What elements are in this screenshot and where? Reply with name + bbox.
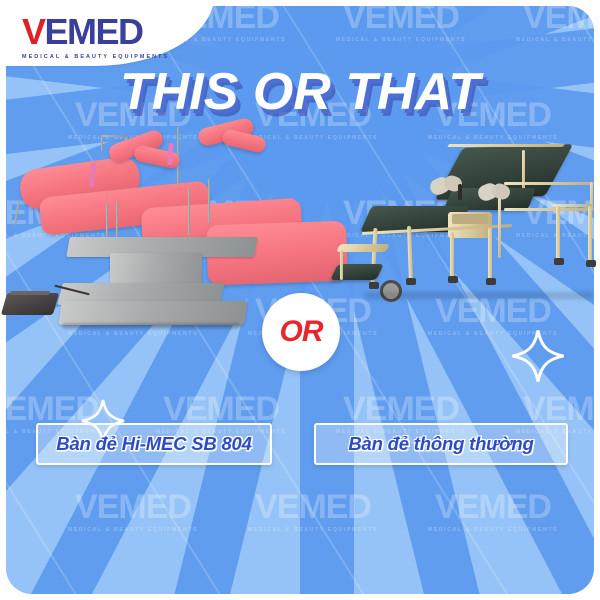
- side-rail-bottom: [504, 208, 594, 211]
- or-label: OR: [280, 315, 323, 349]
- or-divider-badge: OR: [262, 293, 340, 371]
- product-image-right: [352, 140, 596, 340]
- right-product-shadow: [364, 292, 594, 299]
- center-post: [498, 198, 501, 258]
- backrest-rail: [447, 144, 565, 147]
- foot-cap-6: [586, 260, 596, 267]
- foot-cap-5: [554, 258, 564, 265]
- logo-tagline: MEDICAL & BEAUTY EQUIPMENTS: [22, 54, 182, 60]
- base-shadow: [62, 323, 240, 329]
- step-stool-pad: [330, 264, 384, 280]
- step-stool-leg: [340, 250, 343, 280]
- step-stool-top: [336, 244, 390, 252]
- foot-pedal-top: [9, 291, 50, 295]
- leg-3: [450, 232, 454, 280]
- option-label-left[interactable]: Bàn đẻ Hi-MEC SB 804: [36, 423, 272, 465]
- option-label-right-text: Bàn đẻ thông thường: [348, 433, 533, 455]
- foot-cap-1: [369, 282, 379, 289]
- leg-6: [588, 206, 592, 264]
- product-image-left: [2, 145, 302, 345]
- logo-v-letter: V: [22, 11, 45, 52]
- sparkle-icon-right: [510, 328, 566, 384]
- logo-emed-letters: EMED: [45, 11, 143, 52]
- poster-canvas: VEMEDMEDICAL & BEAUTY EQUIPMENTSVEMEDMED…: [0, 0, 600, 600]
- leg-5: [556, 206, 560, 262]
- foot-cap-3: [448, 276, 458, 283]
- iv-hook: [101, 135, 103, 151]
- brand-logo: VEMED MEDICAL & BEAUTY EQUIPMENTS: [22, 14, 182, 60]
- foot-cap-4: [486, 278, 496, 285]
- option-label-right[interactable]: Bàn đẻ thông thường: [314, 423, 568, 465]
- leg-2: [407, 226, 413, 282]
- foot-cap-2: [406, 278, 416, 285]
- drain-pan-inner: [452, 214, 488, 224]
- foot-pedal-control: [1, 293, 59, 315]
- adjust-knob: [458, 184, 462, 200]
- support-rod-d: [208, 179, 210, 223]
- floor-base: [58, 301, 247, 325]
- page-title: THIS OR THAT: [0, 62, 600, 122]
- option-label-left-text: Bàn đẻ Hi-MEC SB 804: [56, 433, 251, 455]
- leg-4: [488, 228, 492, 280]
- side-support-left: [14, 201, 20, 225]
- logo-wordmark: VEMED: [22, 14, 182, 50]
- support-rod-c: [188, 187, 190, 235]
- leg-rest-left-pad: [133, 144, 181, 169]
- side-rail-top: [504, 182, 594, 185]
- iv-pole-arm: [101, 135, 127, 137]
